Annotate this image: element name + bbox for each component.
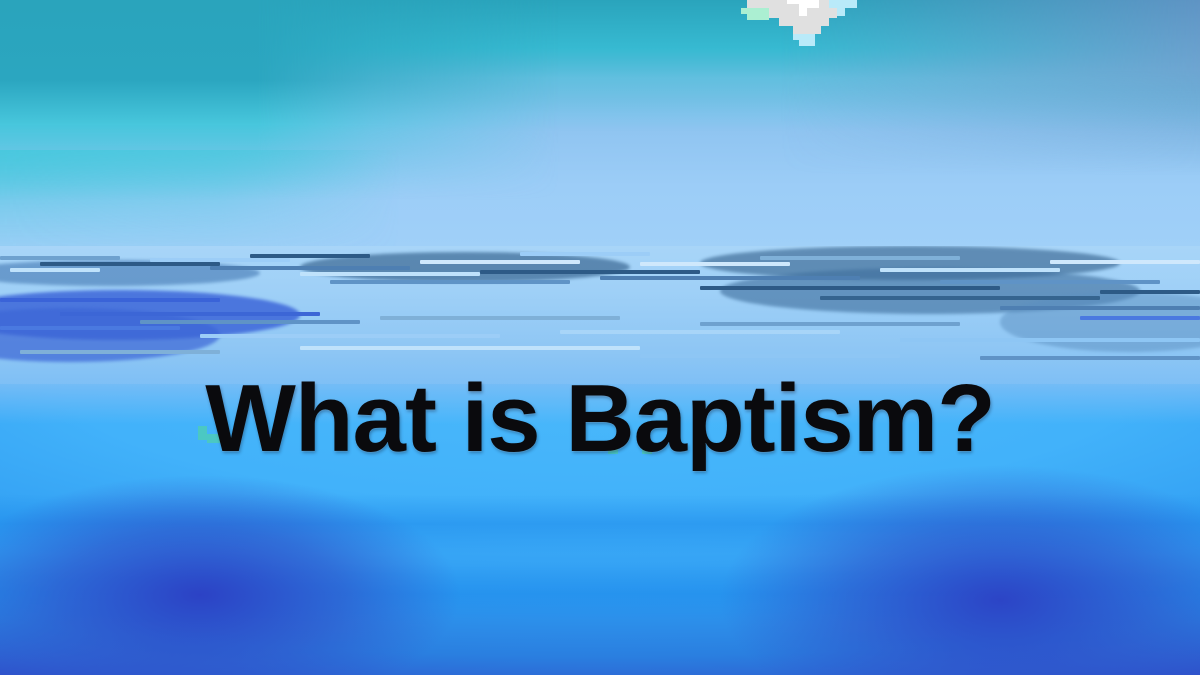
title-layer: What is Baptism? — [0, 0, 1200, 675]
page-title: What is Baptism? — [0, 371, 1200, 467]
slide-canvas: What is Baptism? — [0, 0, 1200, 675]
